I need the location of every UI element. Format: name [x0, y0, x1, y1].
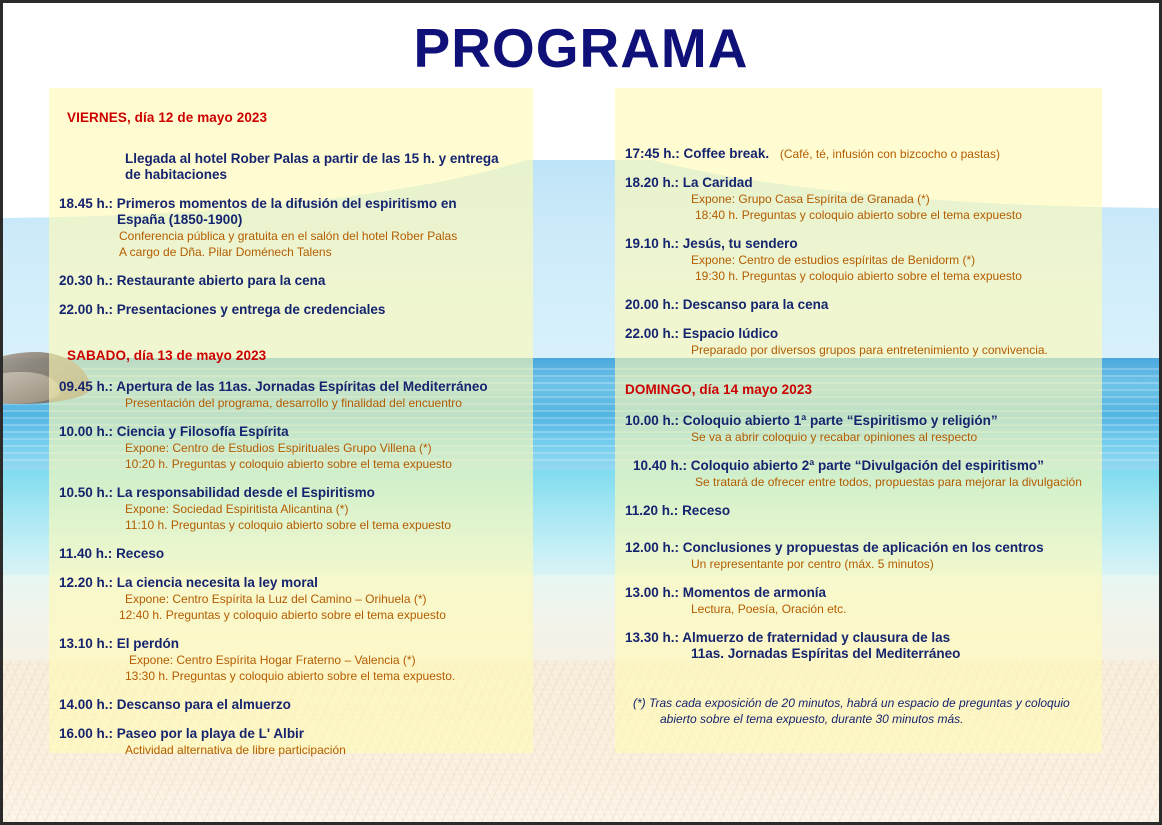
entry-main-line: 11.20 h.: Receso: [625, 503, 1088, 519]
day-group-viernes: VIERNES, día 12 de mayo 2023 Llegada al …: [59, 110, 519, 318]
entry-1820: 18.20 h.: La Caridad Expone: Grupo Casa …: [625, 175, 1088, 223]
entry-llegada: Llegada al hotel Rober Palas a partir de…: [59, 151, 519, 183]
entry-2200: 22.00 h.: Presentaciones y entrega de cr…: [59, 302, 519, 318]
entry-main-line: 22.00 h.: Presentaciones y entrega de cr…: [59, 302, 519, 318]
entry-main-line: 10.00 h.: Coloquio abierto 1ª parte “Esp…: [625, 413, 1088, 429]
day-header-viernes: VIERNES, día 12 de mayo 2023: [67, 110, 519, 125]
entry-subtext: Se va a abrir coloquio y recabar opinion…: [691, 430, 1088, 445]
entry-time: 10.00 h.:: [625, 413, 679, 428]
entry-1050: 10.50 h.: La responsabilidad desde el Es…: [59, 485, 519, 533]
entry-title: El perdón: [117, 636, 179, 651]
entry-time: 11.40 h.:: [59, 546, 112, 561]
entry-main-line: 22.00 h.: Espacio lúdico: [625, 326, 1088, 342]
entry-title: Receso: [682, 503, 730, 518]
entry-1400: 14.00 h.: Descanso para el almuerzo: [59, 697, 519, 713]
entry-main-line: 17:45 h.: Coffee break. (Café, té, infus…: [625, 146, 1088, 162]
entry-time: 18.45 h.:: [59, 196, 113, 211]
entry-1220: 12.20 h.: La ciencia necesita la ley mor…: [59, 575, 519, 623]
entry-main-line: 16.00 h.: Paseo por la playa de L' Albir: [59, 726, 519, 742]
entry-title: Apertura de las 11as. Jornadas Espíritas…: [116, 379, 487, 394]
entry-time: 17:45 h.:: [625, 146, 680, 161]
entry-1310: 13.10 h.: El perdón Expone: Centro Espír…: [59, 636, 519, 684]
entry-title: Presentaciones y entrega de credenciales: [117, 302, 386, 317]
entry-time: 16.00 h.:: [59, 726, 113, 741]
entry-title: Conclusiones y propuestas de aplicación …: [683, 540, 1044, 555]
entry-main-line: 18.45 h.: Primeros momentos de la difusi…: [59, 196, 519, 212]
entry-dom-1120: 11.20 h.: Receso: [625, 503, 1088, 519]
entry-subtext: Expone: Centro Espírita Hogar Fraterno –…: [129, 653, 519, 668]
day-group-domingo: DOMINGO, día 14 mayo 2023 10.00 h.: Colo…: [625, 382, 1088, 662]
entry-time: 20.00 h.:: [625, 297, 679, 312]
entry-subtext: Lectura, Poesía, Oración etc.: [691, 602, 1088, 617]
entry-1000: 10.00 h.: Ciencia y Filosofía Espírita E…: [59, 424, 519, 472]
entry-title: Momentos de armonía: [683, 585, 826, 600]
entry-time: 18.20 h.:: [625, 175, 679, 190]
entry-main-line: 10.00 h.: Ciencia y Filosofía Espírita: [59, 424, 519, 440]
entry-main-line: 13.10 h.: El perdón: [59, 636, 519, 652]
entry-time: 10.00 h.:: [59, 424, 113, 439]
entry-1845: 18.45 h.: Primeros momentos de la difusi…: [59, 196, 519, 260]
entry-1910: 19.10 h.: Jesús, tu sendero Expone: Cent…: [625, 236, 1088, 284]
entry-title: La ciencia necesita la ley moral: [117, 575, 318, 590]
entry-subtext: Conferencia pública y gratuita en el sal…: [119, 229, 519, 244]
entry-parenthetical: (Café, té, infusión con bizcocho o pasta…: [780, 147, 1000, 161]
entry-1600: 16.00 h.: Paseo por la playa de L' Albir…: [59, 726, 519, 758]
entry-main-line: 10.40 h.: Coloquio abierto 2ª parte “Div…: [633, 458, 1088, 474]
entry-time: 10.50 h.:: [59, 485, 113, 500]
entry-time: 14.00 h.:: [59, 697, 113, 712]
entry-title: Coffee break.: [684, 146, 770, 161]
entry-main-line: 12.00 h.: Conclusiones y propuestas de a…: [625, 540, 1088, 556]
entry-title-continued: España (1850-1900): [117, 212, 519, 228]
entry-subtext: Expone: Grupo Casa Espírita de Granada (…: [691, 192, 1088, 207]
entry-subtext: Actividad alternativa de libre participa…: [125, 743, 519, 758]
entry-time: 19.10 h.:: [625, 236, 679, 251]
entry-main-line: 13.00 h.: Momentos de armonía: [625, 585, 1088, 601]
entry-main-line: 10.50 h.: La responsabilidad desde el Es…: [59, 485, 519, 501]
entry-main-line: 12.20 h.: La ciencia necesita la ley mor…: [59, 575, 519, 591]
entry-subtext: A cargo de Dña. Pilar Doménech Talens: [119, 245, 519, 260]
entry-main-line: 20.30 h.: Restaurante abierto para la ce…: [59, 273, 519, 289]
entry-main-line: 09.45 h.: Apertura de las 11as. Jornadas…: [59, 379, 519, 395]
entry-time: 13.30 h.:: [625, 630, 679, 645]
entry-main-line: 13.30 h.: Almuerzo de fraternidad y clau…: [625, 630, 1088, 646]
entry-dom-1300: 13.00 h.: Momentos de armonía Lectura, P…: [625, 585, 1088, 617]
entry-dom-1200: 12.00 h.: Conclusiones y propuestas de a…: [625, 540, 1088, 572]
entry-time: 20.30 h.:: [59, 273, 113, 288]
entry-subtext: Un representante por centro (máx. 5 minu…: [691, 557, 1088, 572]
entry-title: Receso: [116, 546, 164, 561]
entry-1140: 11.40 h.: Receso: [59, 546, 519, 562]
entry-time: 22.00 h.:: [59, 302, 113, 317]
entry-1745: 17:45 h.: Coffee break. (Café, té, infus…: [625, 146, 1088, 162]
footnote-block: (*) Tras cada exposición de 20 minutos, …: [633, 696, 1088, 727]
entry-title: Espacio lúdico: [683, 326, 778, 341]
entry-time: 11.20 h.:: [625, 503, 678, 518]
entry-0945: 09.45 h.: Apertura de las 11as. Jornadas…: [59, 379, 519, 411]
entry-time: 13.10 h.:: [59, 636, 113, 651]
entry-title: Jesús, tu sendero: [683, 236, 798, 251]
entry-subtext: 19:30 h. Preguntas y coloquio abierto so…: [695, 269, 1088, 284]
entry-time: 09.45 h.:: [59, 379, 113, 394]
entry-subtext: Expone: Centro de Estudios Espirituales …: [125, 441, 519, 456]
footnote-text-1: Tras cada exposición de 20 minutos, habr…: [649, 696, 1070, 710]
footnote-line-2: abierto sobre el tema expuesto, durante …: [633, 712, 1088, 728]
entry-title: Coloquio abierto 1ª parte “Espiritismo y…: [683, 413, 998, 428]
entry-subtext: Se tratará de ofrecer entre todos, propu…: [695, 475, 1088, 490]
entry-title: Restaurante abierto para la cena: [117, 273, 326, 288]
entry-time: 10.40 h.:: [633, 458, 687, 473]
entry-time: 13.00 h.:: [625, 585, 679, 600]
entry-subtext: Presentación del programa, desarrollo y …: [125, 396, 519, 411]
entry-title-continued: 11as. Jornadas Espíritas del Mediterráne…: [691, 646, 1088, 662]
entry-title: La Caridad: [683, 175, 753, 190]
entry-title: Descanso para la cena: [683, 297, 829, 312]
footnote-line-1: (*) Tras cada exposición de 20 minutos, …: [633, 696, 1088, 712]
entry-main-line: 14.00 h.: Descanso para el almuerzo: [59, 697, 519, 713]
entry-time: 22.00 h.:: [625, 326, 679, 341]
entry-title: Llegada al hotel Rober Palas a partir de…: [125, 151, 519, 167]
day-header-sabado: SABADO, día 13 de mayo 2023: [67, 348, 519, 363]
entry-dom-1000: 10.00 h.: Coloquio abierto 1ª parte “Esp…: [625, 413, 1088, 445]
entry-title: Coloquio abierto 2ª parte “Divulgación d…: [691, 458, 1044, 473]
entry-title: Primeros momentos de la difusión del esp…: [117, 196, 457, 211]
entry-2030: 20.30 h.: Restaurante abierto para la ce…: [59, 273, 519, 289]
day-group-sabado: SABADO, día 13 de mayo 2023 09.45 h.: Ap…: [59, 348, 519, 758]
entry-subtext: Expone: Centro de estudios espíritas de …: [691, 253, 1088, 268]
entry-2200-ludico: 22.00 h.: Espacio lúdico Preparado por d…: [625, 326, 1088, 358]
entry-subtext: 10:20 h. Preguntas y coloquio abierto so…: [125, 457, 519, 472]
entry-dom-1040: 10.40 h.: Coloquio abierto 2ª parte “Div…: [625, 458, 1088, 490]
entry-title: Ciencia y Filosofía Espírita: [117, 424, 289, 439]
footnote-marker: (*): [633, 696, 646, 710]
entry-main-line: 19.10 h.: Jesús, tu sendero: [625, 236, 1088, 252]
entry-subtext: 13:30 h. Preguntas y coloquio abierto so…: [125, 669, 519, 684]
entry-dom-1330: 13.30 h.: Almuerzo de fraternidad y clau…: [625, 630, 1088, 662]
page-title: PROGRAMA: [0, 16, 1162, 80]
entry-main-line: 20.00 h.: Descanso para la cena: [625, 297, 1088, 313]
entry-title: Paseo por la playa de L' Albir: [117, 726, 304, 741]
entry-subtext: 12:40 h. Preguntas y coloquio abierto so…: [119, 608, 519, 623]
entry-title: La responsabilidad desde el Espiritismo: [117, 485, 375, 500]
entry-subtext: Expone: Sociedad Espiritista Alicantina …: [125, 502, 519, 517]
entry-subtext: 18:40 h. Preguntas y coloquio abierto so…: [695, 208, 1088, 223]
program-panel-right: 17:45 h.: Coffee break. (Café, té, infus…: [615, 88, 1102, 753]
day-group-sabado-continued: 17:45 h.: Coffee break. (Café, té, infus…: [625, 146, 1088, 358]
program-panel-left: VIERNES, día 12 de mayo 2023 Llegada al …: [49, 88, 533, 753]
day-header-domingo: DOMINGO, día 14 mayo 2023: [625, 382, 1088, 397]
entry-main-line: 11.40 h.: Receso: [59, 546, 519, 562]
entry-title: Descanso para el almuerzo: [117, 697, 291, 712]
entry-title-continued: de habitaciones: [125, 167, 519, 183]
entry-title: Almuerzo de fraternidad y clausura de la…: [682, 630, 950, 645]
entry-2000: 20.00 h.: Descanso para la cena: [625, 297, 1088, 313]
entry-time: 12.20 h.:: [59, 575, 113, 590]
entry-main-line: 18.20 h.: La Caridad: [625, 175, 1088, 191]
entry-subtext: Expone: Centro Espírita la Luz del Camin…: [125, 592, 519, 607]
entry-subtext: Preparado por diversos grupos para entre…: [691, 343, 1088, 358]
entry-time: 12.00 h.:: [625, 540, 679, 555]
entry-subtext: 11:10 h. Preguntas y coloquio abierto so…: [125, 518, 519, 533]
